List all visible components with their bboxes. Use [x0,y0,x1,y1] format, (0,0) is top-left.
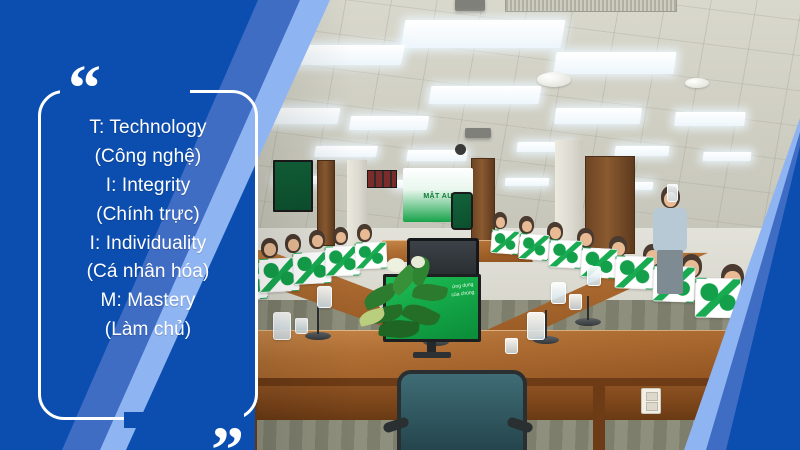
water-carafe [587,266,601,286]
attendee-trousers [657,250,683,294]
quote-card: “ ” T: Technology (Công nghệ) I: Integri… [38,90,258,420]
standing-attendee [647,186,693,298]
security-camera-icon [455,144,466,155]
microphone-arm [317,306,319,334]
ceiling-projector [465,128,491,138]
attendee-face [336,232,346,243]
ceiling-light [505,178,550,186]
attendee-face [264,243,276,256]
plant-leaf [378,318,420,340]
air-vent-icon [505,0,677,12]
ceiling-light [429,86,542,104]
attendee-face [496,217,505,228]
drinking-glass [505,338,518,354]
water-carafe [317,286,332,308]
attendee-face [312,235,323,247]
wall-power-outlet [641,388,661,414]
microphone-arm [587,296,589,320]
quote-line-1: T: Technology [38,114,258,143]
green-display-board [273,160,313,212]
ceiling-light [703,152,752,161]
quote-line-2: (Công nghệ) [38,143,258,172]
table-leg [593,386,605,450]
drinking-glass [295,318,308,334]
ceiling-light [314,146,378,157]
quote-line-7: M: Mastery [38,287,258,316]
ceiling-light [554,108,642,124]
ceiling-light [614,146,669,156]
ceiling-light [401,20,566,48]
slide-canvas: MẬT AU [0,0,800,450]
ceiling-light [255,108,341,124]
attendee-face [550,227,561,239]
attendee-shirt [653,208,687,252]
drinking-glass [569,294,582,310]
smoke-detector-icon [537,72,571,87]
attendee-face [360,229,370,240]
water-carafe [273,312,291,340]
table-apron [255,386,800,420]
green-banner-flag [548,239,582,269]
ceiling-light [674,112,745,126]
plant-flower [411,256,425,268]
water-carafe [551,282,566,304]
office-chair [397,370,527,450]
green-banner-flag [518,233,550,261]
quote-line-3: I: Integrity [38,172,258,201]
wall-photo-frames [367,170,397,188]
water-bottle-icon [667,184,678,202]
open-quote-icon: “ [68,56,101,122]
attendee-face [522,221,532,232]
water-carafe [527,312,545,340]
quote-line-4: (Chính trực) [38,201,258,230]
potted-plant [359,258,455,348]
green-banner-flag [695,278,742,319]
conference-room-photo: MẬT AU [255,0,800,450]
plant-flower [387,258,405,272]
microphone-arm [545,310,547,338]
quote-line-6: (Cá nhân hóa) [38,258,258,287]
ceiling-light [349,116,429,130]
projector-icon [455,0,485,11]
ceiling-light [281,45,405,65]
quote-line-5: I: Individuality [38,230,258,259]
green-banner-flag [490,229,520,255]
monitor-foot [413,352,451,358]
attendee-face [288,239,299,251]
quote-line-8: (Làm chủ) [38,316,258,345]
attendees-right-row [485,208,775,328]
quote-text-block: T: Technology (Công nghệ) I: Integrity (… [38,114,258,345]
ceiling-speaker-icon [685,78,709,88]
ceiling-light [553,52,676,74]
close-quote-icon: ” [211,418,244,450]
